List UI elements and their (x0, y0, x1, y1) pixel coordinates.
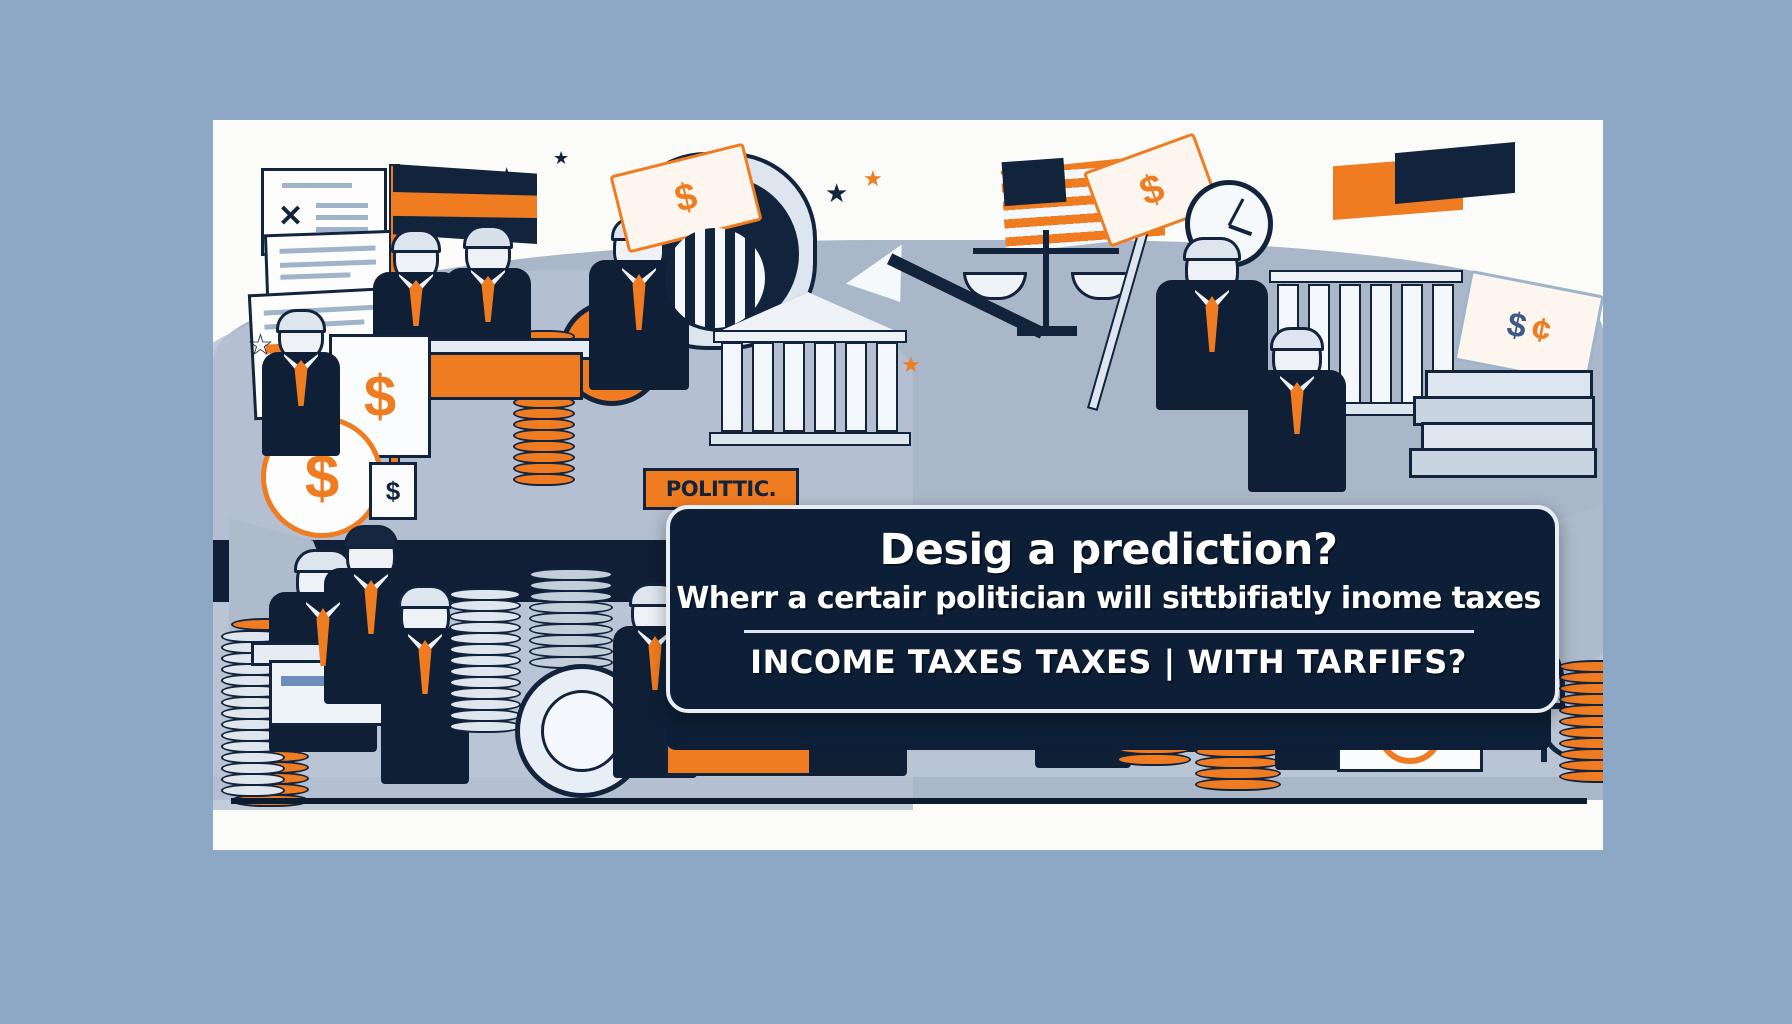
seal-inner (541, 690, 623, 772)
politic-news-banner: POLITTIC. (643, 468, 799, 510)
building-columns (721, 342, 898, 432)
stacked-blocks (1409, 448, 1597, 478)
star-icon: ★ (495, 162, 518, 193)
building-architrave (1269, 270, 1463, 283)
price-tag-icon: $ (369, 462, 417, 520)
dark-flag-right (1395, 142, 1515, 204)
figure-hair (463, 225, 513, 249)
star-icon: ★ (863, 166, 883, 192)
scales-base (1017, 326, 1077, 336)
politician-figure (261, 312, 341, 462)
document-line (316, 203, 368, 208)
figure-hair (391, 229, 441, 253)
scales-pan (963, 272, 1027, 300)
flag-orange-stripe (393, 192, 537, 218)
figure-hair (398, 585, 452, 609)
dollar-icon: $ (1134, 165, 1170, 215)
clock-hand-hour (1228, 224, 1252, 236)
figure-hair (1183, 237, 1241, 261)
overlay-subtitle: Wherr a certair politician will sittbifi… (676, 581, 1541, 616)
ground-line (231, 798, 1587, 804)
coin-stack (1559, 662, 1603, 783)
politician-figure (1249, 330, 1345, 500)
illustration-card: ✕ $ $ (213, 120, 1603, 850)
star-icon: ★ (901, 352, 921, 378)
figure-hair (344, 525, 398, 549)
document-line (279, 245, 375, 253)
dollar-icon: $ (1504, 305, 1530, 347)
american-flag-canton (1002, 158, 1067, 206)
dollar-icon: $ (671, 175, 702, 222)
overlay-title: Desig a prediction? (880, 525, 1338, 575)
overlay-text-group: Desig a prediction? Wherr a certair poli… (666, 505, 1551, 755)
document-line (280, 272, 350, 279)
dollar-icon: $ (386, 476, 400, 507)
currency-glyph: ¢ (1528, 309, 1554, 351)
figure-hair (276, 309, 326, 333)
document-line (280, 259, 376, 267)
document-line (282, 183, 352, 188)
star-icon: ★ (553, 148, 569, 169)
scales-beam (973, 248, 1119, 254)
building-base (709, 432, 911, 446)
figure-hair (1270, 327, 1324, 351)
scales-post (1043, 230, 1049, 326)
overlay-divider (744, 630, 1474, 633)
clock-hand-minute (1228, 198, 1245, 226)
coin-stack (529, 570, 613, 669)
screenshot-root: ✕ $ $ (0, 0, 1792, 1024)
cross-icon: ✕ (278, 199, 303, 234)
document-line (316, 215, 368, 220)
overlay-footer: INCOME TAXES TAXES | WITH TARFIFS? (750, 643, 1467, 681)
dollar-icon: $ (364, 363, 396, 430)
star-icon: ★ (825, 178, 848, 209)
coin-stack (449, 590, 521, 733)
justice-scales (961, 230, 1131, 350)
